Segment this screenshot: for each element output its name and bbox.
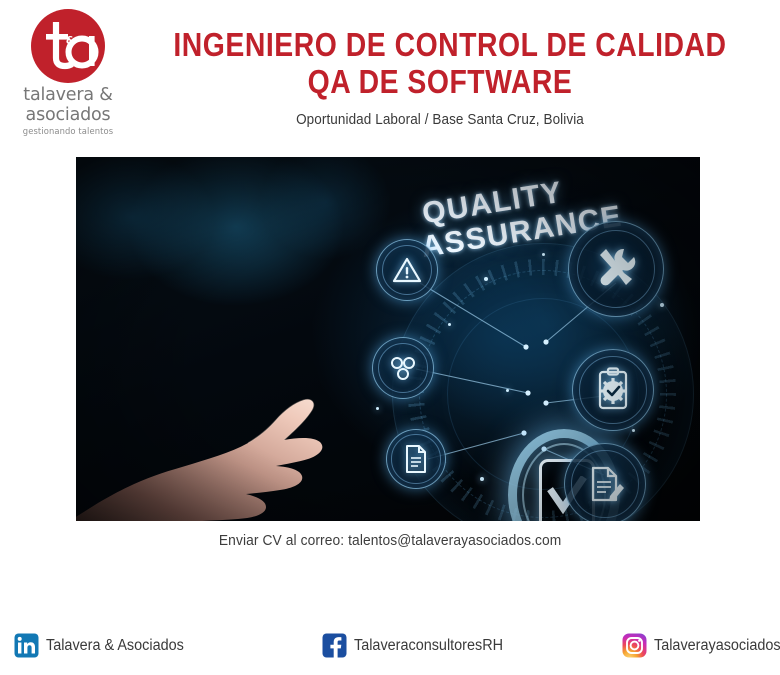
page-title-line1: INGENIERO DE CONTROL DE CALIDAD [173,26,706,63]
brand-logo: & talavera & asociados gestionando talen… [8,8,128,136]
footer-social-bar: Talavera & Asociados Talaveraconsultores… [0,624,780,675]
facebook-icon[interactable] [322,633,347,658]
brand-tagline: gestionando talentos [8,126,128,136]
social-linkedin[interactable]: Talavera & Asociados [14,633,194,658]
contact-email-text: Enviar CV al correo: talentos@talaveraya… [219,532,561,549]
social-facebook[interactable]: TalaveraconsultoresRH [322,633,514,658]
contact-email-line: Enviar CV al correo: talentos@talaveraya… [0,532,780,549]
page-title-line2: QA DE SOFTWARE [173,63,706,100]
social-handle-instagram: Talaverayasociados [654,637,780,655]
linkedin-icon[interactable] [14,633,39,658]
brand-name-line2: asociados [8,106,128,124]
brand-name-line1: talavera & [8,86,128,104]
title-block: INGENIERO DE CONTROL DE CALIDAD QA DE SO… [130,26,750,129]
photo-vignette [76,157,700,521]
social-handle-linkedin: Talavera & Asociados [46,637,184,655]
social-handle-facebook: TalaveraconsultoresRH [354,637,503,655]
page-subtitle: Oportunidad Laboral / Base Santa Cruz, B… [161,111,719,129]
header: & talavera & asociados gestionando talen… [0,0,780,152]
instagram-icon[interactable] [622,633,647,658]
svg-text:&: & [66,34,76,47]
social-instagram[interactable]: Talaverayasociados [622,633,780,658]
hero-photo: QUALITY ASSURANCE [76,157,700,521]
logo-mark-icon: & [30,8,106,84]
